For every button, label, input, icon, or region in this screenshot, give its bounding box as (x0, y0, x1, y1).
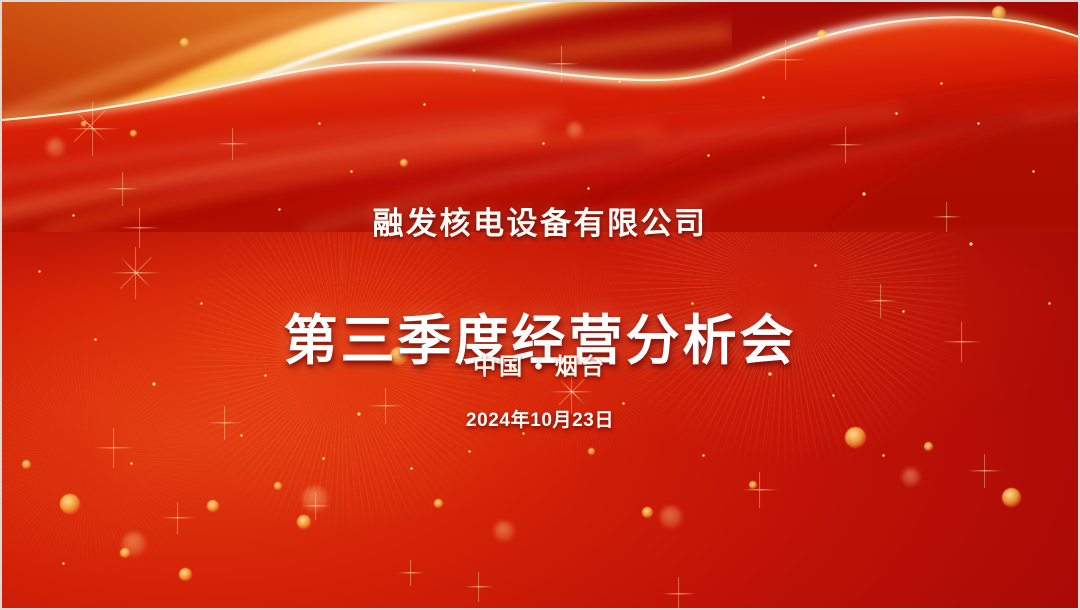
title-slide: 融发核电设备有限公司 第三季度经营分析会 中国 • 烟台 2024年10月23日 (0, 0, 1080, 610)
event-date: 2024年10月23日 (2, 405, 1078, 432)
event-location: 中国 • 烟台 (2, 347, 1078, 381)
company-name: 融发核电设备有限公司 (2, 198, 1078, 243)
star-flare-icon (66, 102, 120, 156)
